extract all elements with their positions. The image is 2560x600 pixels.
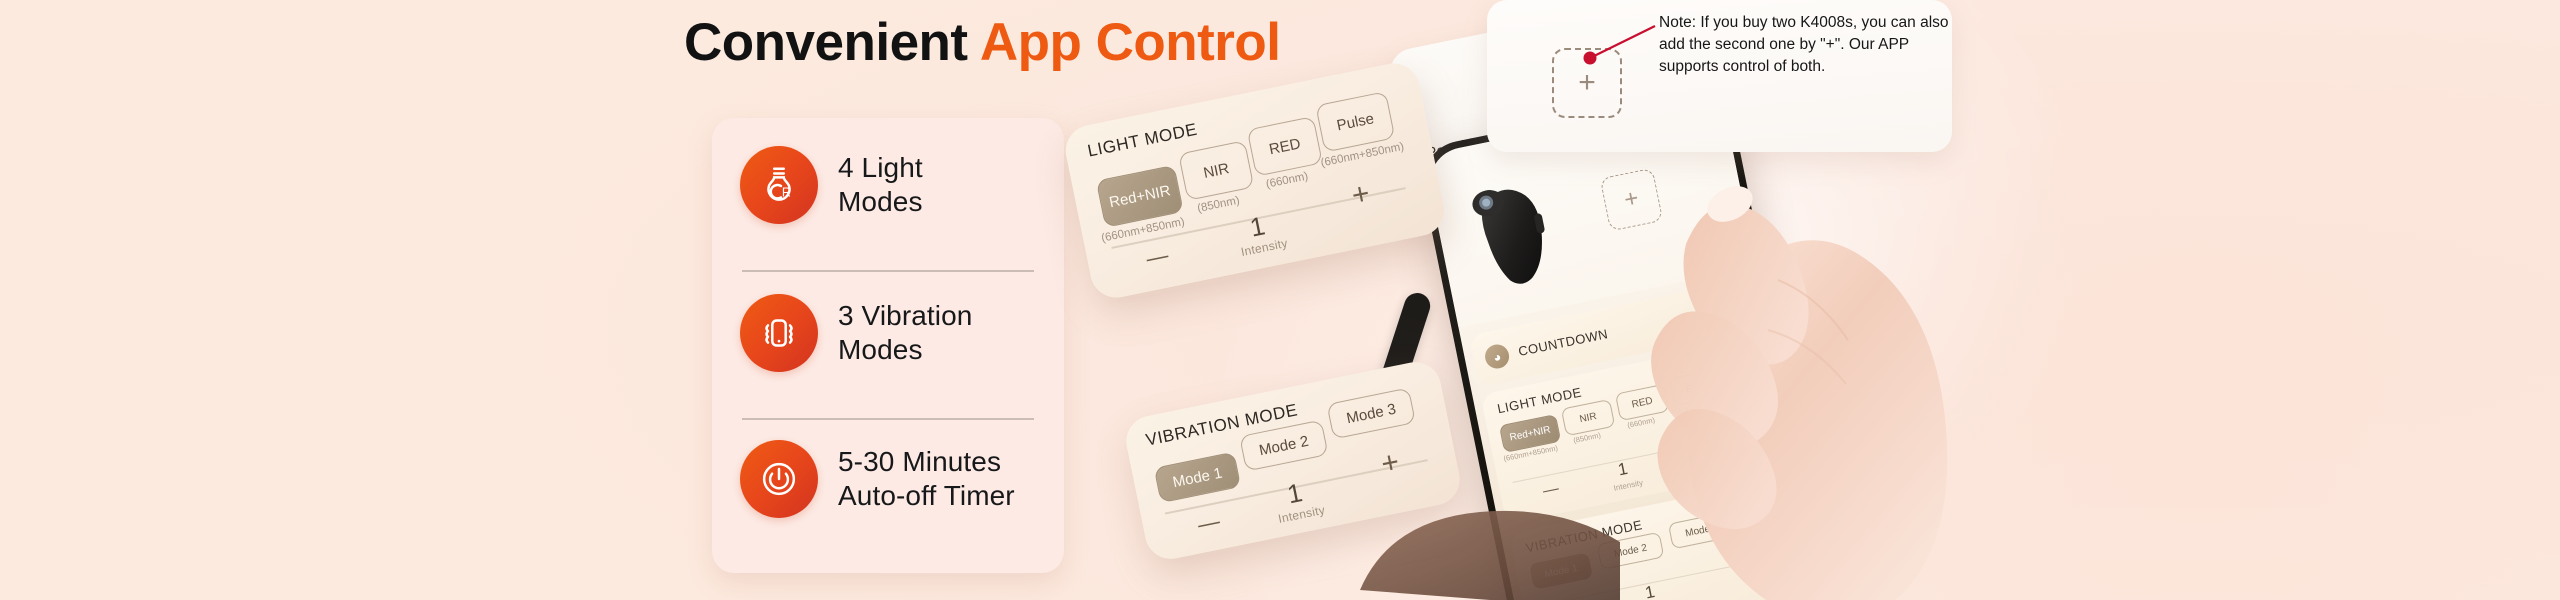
light-increase-button[interactable]: + xyxy=(1349,179,1372,212)
feature-item-vibration-modes: 3 Vibration Modes xyxy=(740,294,972,372)
phone-vib-intensity-value: 1 xyxy=(1643,582,1656,600)
phone-light-chip-red[interactable]: RED xyxy=(1615,384,1670,421)
power-timer-icon xyxy=(740,440,818,518)
phone-vib-chip-mode-3[interactable]: Mode 3 xyxy=(1668,511,1736,549)
feature-item-light-modes: R 4 Light Modes xyxy=(740,146,923,224)
light-mode-card: LIGHT MODE Red+NIR (660nm+850nm) NIR (85… xyxy=(1061,59,1449,302)
phone-mockup: + ◕ COUNTDOWN 20min › LIGHT MODE Red+NIR… xyxy=(1415,86,1830,600)
feature-label-line2: Auto-off Timer xyxy=(838,480,1015,511)
promo-banner: Convenient App Control R 4 Light Modes xyxy=(0,0,2560,600)
clock-icon: ◕ xyxy=(1483,342,1511,370)
phone-vib-chip-mode-1[interactable]: Mode 1 xyxy=(1529,552,1593,589)
add-device-placeholder-icon[interactable]: + xyxy=(1552,48,1622,118)
feature-divider xyxy=(742,270,1034,272)
feature-label-line2: Modes xyxy=(838,186,923,217)
vib-chip-mode-1[interactable]: Mode 1 xyxy=(1154,452,1242,504)
device-thumbnail xyxy=(1458,170,1566,303)
feature-label-line1: 3 Vibration xyxy=(838,300,972,331)
light-intensity-caption: Intensity xyxy=(1240,236,1289,259)
add-device-plus-icon[interactable]: + xyxy=(1600,168,1664,232)
feature-divider xyxy=(742,418,1034,420)
feature-label-line2: Modes xyxy=(838,334,923,365)
feature-list-panel: R 4 Light Modes 3 Vibration Modes xyxy=(712,118,1064,573)
countdown-value[interactable]: 20min › xyxy=(1704,285,1742,304)
light-chip-nir[interactable]: NIR xyxy=(1178,140,1254,201)
note-text: Note: If you buy two K4008s, you can als… xyxy=(1659,12,1949,78)
chevron-right-icon: › xyxy=(1736,285,1742,297)
phone-light-increase-button[interactable]: + xyxy=(1704,430,1719,452)
phone-light-intensity-value: 1 xyxy=(1616,459,1629,480)
page-title-primary: Convenient xyxy=(684,13,980,72)
vib-increase-button[interactable]: + xyxy=(1379,447,1402,480)
feature-label: 5-30 Minutes Auto-off Timer xyxy=(838,445,1015,513)
page-title: Convenient App Control xyxy=(684,16,1281,69)
vib-chip-mode-3[interactable]: Mode 3 xyxy=(1326,387,1415,439)
vibration-mode-card: VIBRATION MODE Mode 1 Mode 2 Mode 3 — 1 … xyxy=(1122,358,1464,564)
light-chip-red[interactable]: RED xyxy=(1247,116,1323,177)
vib-decrease-button[interactable]: — xyxy=(1196,510,1222,536)
svg-text:R: R xyxy=(782,186,791,200)
countdown-label: COUNTDOWN xyxy=(1517,326,1609,359)
page-title-accent: App Control xyxy=(980,13,1281,72)
vibration-icon xyxy=(740,294,818,372)
feature-label: 4 Light Modes xyxy=(838,151,923,219)
phone-light-decrease-button[interactable]: — xyxy=(1541,481,1560,500)
countdown-value-text: 20min xyxy=(1704,286,1736,304)
feature-label: 3 Vibration Modes xyxy=(838,299,972,367)
feature-label-line1: 4 Light xyxy=(838,152,923,183)
light-decrease-button[interactable]: — xyxy=(1144,244,1170,270)
phone-light-intensity-caption: Intensity xyxy=(1613,478,1644,493)
note-callout: + Note: If you buy two K4008s, you can a… xyxy=(1487,0,1952,152)
vib-intensity-value: 1 xyxy=(1285,477,1305,510)
background-glow-right xyxy=(1750,120,2560,600)
light-bulb-icon: R xyxy=(740,146,818,224)
feature-label-line1: 5-30 Minutes xyxy=(838,446,1001,477)
phone-light-chip-nir[interactable]: NIR xyxy=(1561,399,1616,436)
light-chip-pulse[interactable]: Pulse xyxy=(1315,91,1395,152)
phone-vib-increase-button[interactable]: + xyxy=(1732,553,1747,575)
feature-item-auto-off-timer: 5-30 Minutes Auto-off Timer xyxy=(740,440,1015,518)
phone-screen: + ◕ COUNTDOWN 20min › LIGHT MODE Red+NIR… xyxy=(1423,95,1822,600)
vib-intensity-caption: Intensity xyxy=(1277,503,1326,526)
